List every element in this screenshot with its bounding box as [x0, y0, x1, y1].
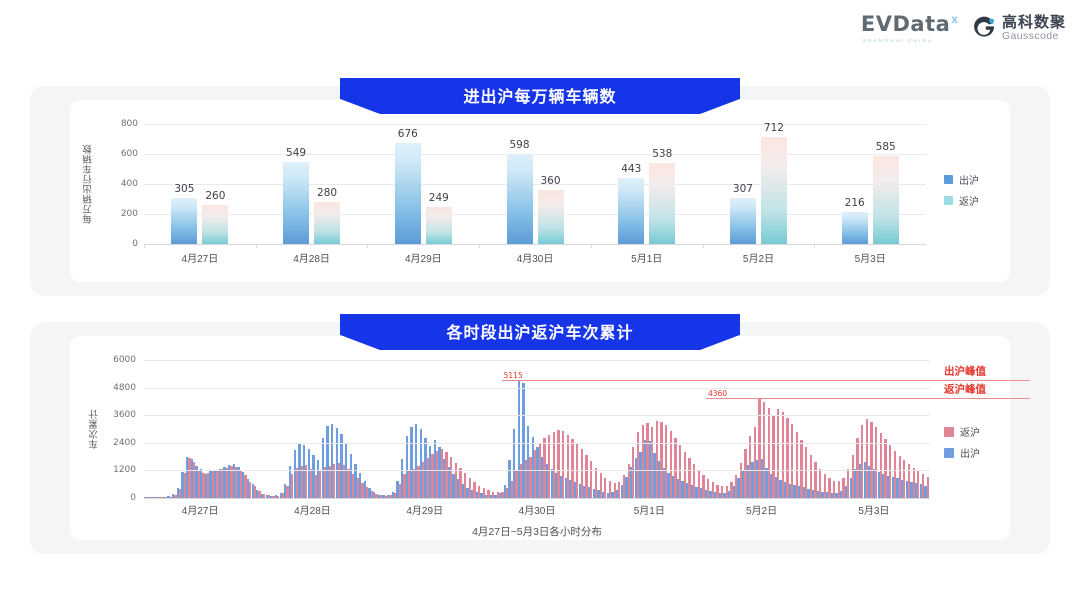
section-title-banner-vehicles: 进出沪每万辆车辆数 [340, 78, 740, 114]
x-axis-label: 4月27日 [144, 502, 256, 517]
x-axis-label: 5月3日 [814, 250, 926, 265]
bar-group: 216585 [814, 124, 926, 244]
x-axis-labels-hourly: 4月27日4月28日4月29日4月30日5月1日5月2日5月3日 [144, 502, 930, 517]
bar-fanhu[interactable]: 712 [761, 137, 787, 244]
x-axis-label: 5月1日 [593, 502, 705, 517]
y-tick-label: 200 [104, 209, 138, 219]
bar-group: 443538 [591, 124, 703, 244]
peak-label: 返沪峰值 [944, 381, 986, 396]
legend-label-chuhu: 出沪 [959, 172, 979, 187]
bar-value-label: 360 [540, 175, 560, 187]
bar-chuhu[interactable]: 598 [507, 154, 533, 244]
bar-value-label: 676 [398, 128, 418, 140]
plot-grid-hourly: 5115出沪峰值4360返沪峰值 [144, 360, 930, 498]
section-title-hourly: 各时段出沪返沪车次累计 [446, 319, 633, 343]
peak-value-label: 4360 [708, 389, 727, 398]
bar-chuhu[interactable]: 443 [618, 178, 644, 244]
bar-fanhu[interactable]: 538 [649, 163, 675, 244]
bar-value-label: 249 [429, 192, 449, 204]
y-tick-label: 4800 [102, 383, 136, 393]
x-axis-line [144, 244, 926, 245]
legend-label-hourly-fanhu: 返沪 [960, 424, 980, 439]
bar-value-label: 260 [205, 190, 225, 202]
x-tick [591, 244, 592, 248]
gridline [144, 443, 930, 444]
bar-value-label: 598 [509, 139, 529, 151]
x-tick [367, 244, 368, 248]
bar-value-label: 549 [286, 147, 306, 159]
bar-chuhu[interactable]: 305 [171, 198, 197, 244]
dashboard-page: EVData x SHANGHAI CHINA 高科数聚 Gausscode 进… [0, 0, 1080, 608]
bar-fanhu[interactable]: 280 [314, 202, 340, 244]
bar-fanhu[interactable]: 360 [538, 190, 564, 244]
bar-group: 549280 [256, 124, 368, 244]
legend-label-fanhu: 返沪 [959, 193, 979, 208]
peak-label: 出沪峰值 [944, 364, 986, 379]
x-tick [256, 244, 257, 248]
y-tick-label: 600 [104, 149, 138, 159]
y-tick-label: 6000 [102, 355, 136, 365]
x-axis-label: 4月28日 [256, 250, 368, 265]
bar-group: 307712 [703, 124, 815, 244]
bar-value-label: 305 [174, 183, 194, 195]
y-tick-label: 400 [104, 179, 138, 189]
gausscode-name-en: Gausscode [1002, 31, 1066, 42]
x-axis-labels-vehicles: 4月27日4月28日4月29日4月30日5月1日5月2日5月3日 [144, 250, 926, 265]
bar-chuhu[interactable]: 549 [283, 162, 309, 244]
bar-chuhu[interactable]: 307 [730, 198, 756, 244]
evdata-logo-text: EVData [861, 14, 950, 35]
bar-chart-vehicles: 每万辆出行车辆数 0200400600800 30526054928067624… [78, 114, 968, 279]
bar-group: 676249 [367, 124, 479, 244]
gridline [144, 415, 930, 416]
legend-item-fanhu[interactable]: 返沪 [944, 193, 979, 208]
x-axis-label: 4月27日 [144, 250, 256, 265]
bar-group: 305260 [144, 124, 256, 244]
x-axis-label: 5月2日 [705, 502, 817, 517]
bar-value-label: 280 [317, 187, 337, 199]
y-tick-label: 0 [102, 493, 136, 503]
legend-item-chuhu[interactable]: 出沪 [944, 172, 979, 187]
y-tick-label: 800 [104, 119, 138, 129]
gausscode-logo-icon [972, 16, 996, 40]
evdata-x-icon: x [951, 12, 958, 26]
legend-item-hourly-fanhu[interactable]: 返沪 [944, 424, 980, 439]
bar-chuhu[interactable]: 676 [395, 143, 421, 244]
legend-swatch-hourly-fanhu [944, 427, 954, 437]
bar-chuhu[interactable]: 216 [842, 212, 868, 244]
bar-value-label: 538 [652, 148, 672, 160]
legend-swatch-chuhu [944, 175, 953, 184]
x-tick [703, 244, 704, 248]
y-axis-title-vehicles: 每万辆出行车辆数 [82, 124, 96, 244]
x-axis-label: 4月29日 [369, 502, 481, 517]
section-title-banner-hourly: 各时段出沪返沪车次累计 [340, 314, 740, 350]
y-tick-label: 2400 [102, 438, 136, 448]
x-axis-label: 5月2日 [703, 250, 815, 265]
bar-value-label: 443 [621, 163, 641, 175]
legend-swatch-fanhu [944, 196, 953, 205]
legend-label-hourly-chuhu: 出沪 [960, 445, 980, 460]
x-axis-label: 4月30日 [479, 250, 591, 265]
bar-fanhu[interactable]: 585 [873, 156, 899, 244]
bar-value-label: 216 [845, 197, 865, 209]
brand-logo-bar: EVData x SHANGHAI CHINA 高科数聚 Gausscode [861, 14, 1066, 43]
evdata-logo: EVData x SHANGHAI CHINA [861, 14, 958, 43]
peak-reference-line [706, 398, 1030, 399]
x-axis-label: 4月29日 [367, 250, 479, 265]
peak-value-label: 5115 [504, 371, 523, 380]
bar-value-label: 307 [733, 183, 753, 195]
y-tick-label: 0 [104, 239, 138, 249]
x-tick [144, 244, 145, 248]
section-title-vehicles: 进出沪每万辆车辆数 [463, 83, 616, 107]
x-tick [814, 244, 815, 248]
legend-swatch-hourly-chuhu [944, 448, 954, 458]
bar-chart-hourly: 车次累计 012002400360048006000 5115出沪峰值4360返… [78, 352, 968, 542]
x-axis-line [144, 498, 930, 499]
legend-hourly[interactable]: 返沪 出沪 [944, 424, 980, 466]
bar-value-label: 585 [876, 141, 896, 153]
bar-groups-vehicles: 3052605492806762495983604435383077122165… [144, 124, 926, 244]
x-tick [479, 244, 480, 248]
bar-value-label: 712 [764, 122, 784, 134]
evdata-logo-subtitle: SHANGHAI CHINA [863, 38, 933, 43]
hour-bar-fanhu [927, 477, 929, 498]
x-axis-label: 5月3日 [818, 502, 930, 517]
gausscode-name-cn: 高科数聚 [1002, 15, 1066, 31]
x-axis-label: 4月28日 [256, 502, 368, 517]
gridline [144, 388, 930, 389]
gridline [144, 470, 930, 471]
x-axis-label: 4月30日 [481, 502, 593, 517]
y-tick-label: 3600 [102, 410, 136, 420]
y-tick-label: 1200 [102, 465, 136, 475]
x-axis-title-hourly: 4月27日~5月3日各小时分布 [144, 524, 930, 539]
gausscode-logo: 高科数聚 Gausscode [972, 15, 1066, 42]
legend-vehicles[interactable]: 出沪 返沪 [944, 172, 979, 214]
bar-group: 598360 [479, 124, 591, 244]
y-axis-title-hourly: 车次累计 [88, 360, 102, 498]
legend-item-hourly-chuhu[interactable]: 出沪 [944, 445, 980, 460]
bar-fanhu[interactable]: 260 [202, 205, 228, 244]
x-axis-label: 5月1日 [591, 250, 703, 265]
bar-fanhu[interactable]: 249 [426, 207, 452, 244]
gridline [144, 360, 930, 361]
